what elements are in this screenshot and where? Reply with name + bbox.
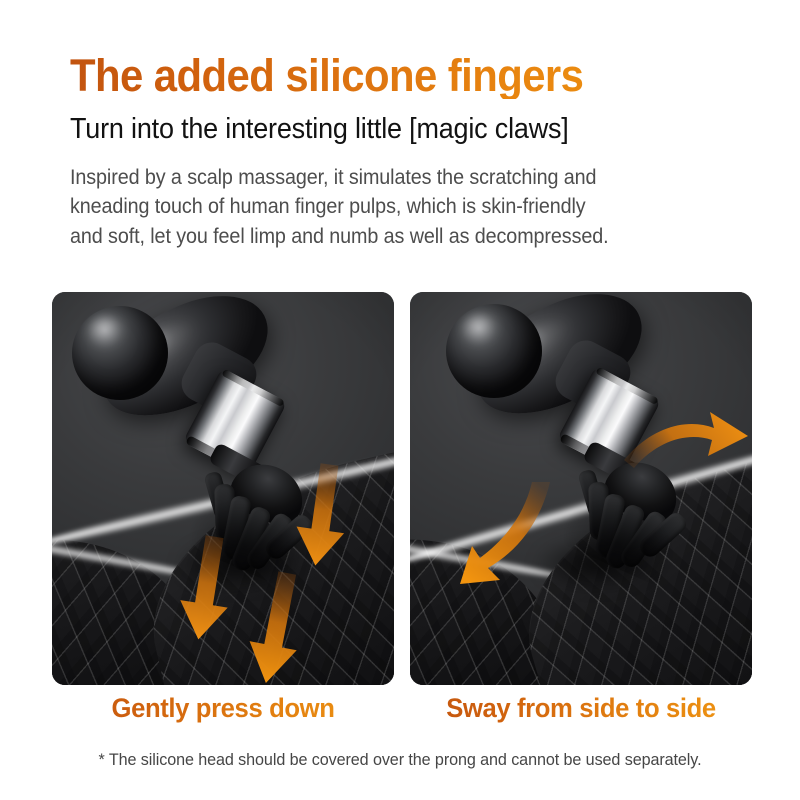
press-down-arrow-center (248, 572, 304, 685)
page-subheadline: Turn into the interesting little [magic … (70, 113, 693, 146)
panel-sway-side-to-side (410, 292, 752, 685)
body-line-3: and soft, let you feel limp and numb as … (70, 222, 739, 252)
caption-gently-press-down: Gently press down (61, 694, 386, 736)
footnote-disclaimer: * The silicone head should be covered ov… (20, 750, 780, 770)
caption-sway-side-to-side: Sway from side to side (419, 694, 744, 736)
product-feature-page: The added silicone fingers Turn into the… (0, 0, 800, 800)
intro-text-block: The added silicone fingers Turn into the… (70, 52, 740, 252)
press-down-arrow-right (294, 464, 350, 572)
gun-bulb-head (446, 304, 542, 398)
press-down-arrow-left (178, 536, 234, 646)
gun-bulb-head (72, 306, 168, 400)
page-headline: The added silicone fingers (70, 52, 693, 99)
demonstration-panels (52, 292, 752, 685)
sway-arrow-left (458, 480, 562, 598)
panel-captions: Gently press down Sway from side to side (52, 694, 752, 736)
body-line-2: kneading touch of human finger pulps, wh… (70, 192, 739, 222)
sway-arrow-right (622, 410, 752, 490)
body-line-1: Inspired by a scalp massager, it simulat… (70, 163, 739, 193)
panel-gently-press-down (52, 292, 394, 685)
body-description: Inspired by a scalp massager, it simulat… (70, 163, 739, 252)
